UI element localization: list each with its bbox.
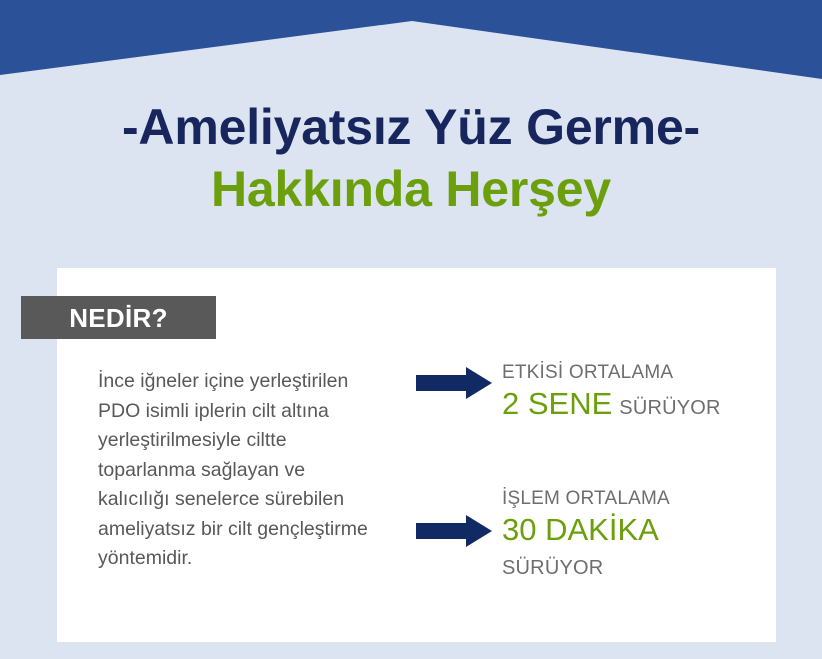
- stat-value-line: 2 SENESÜRÜYOR: [502, 385, 752, 429]
- stat-caption: İŞLEM ORTALAMA: [502, 486, 752, 511]
- arrow-right-icon: [414, 365, 494, 401]
- section-tag-label: NEDİR?: [69, 305, 168, 331]
- section-tag-badge: NEDİR?: [21, 296, 216, 339]
- stat-text-group: İŞLEM ORTALAMA 30 DAKİKA SÜRÜYOR: [502, 486, 752, 582]
- poster-title: -Ameliyatsız Yüz Germe- Hakkında Herşey: [0, 96, 822, 220]
- stat-suffix: SÜRÜYOR: [612, 397, 720, 419]
- stat-value: 2 SENE: [502, 386, 612, 421]
- arrow-right-icon: [414, 513, 494, 549]
- section-paragraph: İnce iğneler içine yerleştirilen PDO isi…: [98, 367, 378, 574]
- title-line-primary: -Ameliyatsız Yüz Germe-: [0, 96, 822, 158]
- header-chevron-band: [0, 0, 822, 100]
- stat-suffix: SÜRÜYOR: [502, 555, 752, 582]
- title-line-secondary: Hakkında Herşey: [0, 158, 822, 220]
- stat-caption: ETKİSİ ORTALAMA: [502, 360, 752, 385]
- stat-text-group: ETKİSİ ORTALAMA 2 SENESÜRÜYOR: [502, 360, 752, 429]
- infographic-poster: -Ameliyatsız Yüz Germe- Hakkında Herşey …: [0, 0, 822, 659]
- stat-value-line: 30 DAKİKA: [502, 511, 752, 555]
- stat-value: 30 DAKİKA: [502, 512, 659, 547]
